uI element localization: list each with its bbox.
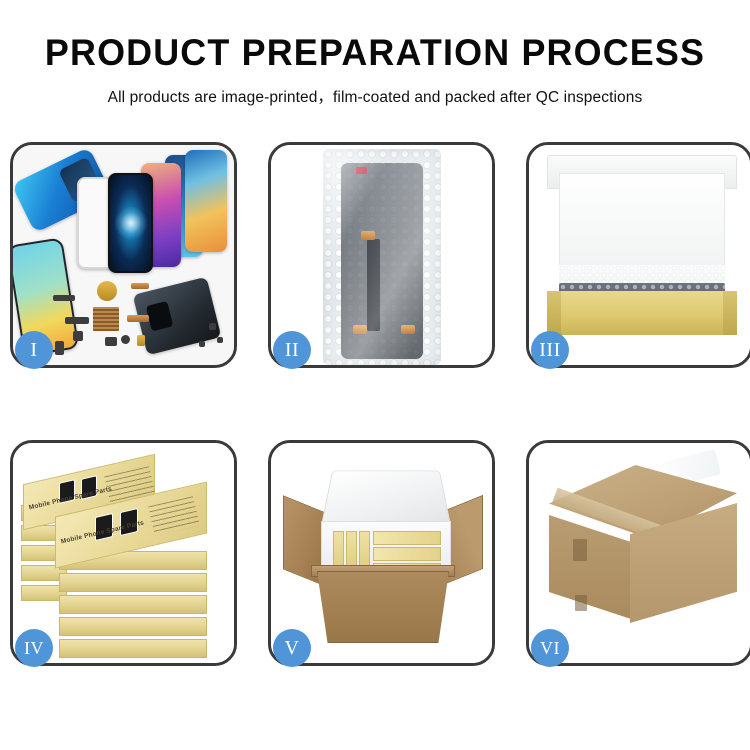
step-badge-2: II — [273, 331, 311, 369]
part-camera-module — [105, 337, 117, 346]
packed-yellow-box-4 — [373, 531, 441, 545]
step-panel-4: Mobile Phone Spare Parts Mobile Phone Sp… — [10, 440, 237, 666]
steps-grid: I II — [10, 142, 740, 666]
phone-gold-display — [185, 150, 227, 252]
step-badge-3: III — [531, 331, 569, 369]
step-badge-6: VI — [531, 629, 569, 667]
flex-connector-right — [401, 325, 415, 334]
part-screw-c — [199, 341, 205, 347]
box-stack: Mobile Phone Spare Parts Mobile Phone Sp… — [13, 443, 234, 663]
stacked-box-f-4 — [59, 617, 207, 636]
step-badge-5: V — [273, 629, 311, 667]
part-flex-cable-a — [131, 283, 149, 289]
part-gold-contact — [137, 335, 145, 346]
flex-connector-top — [361, 231, 375, 240]
carton-front-face — [317, 571, 449, 643]
carton-handle-notch-bottom — [575, 595, 587, 611]
step-badge-1: I — [15, 331, 53, 369]
stacked-box-f-3 — [59, 595, 207, 614]
part-flex-cable-b — [127, 315, 149, 322]
part-gold-disc — [97, 281, 117, 301]
foam-box-lid — [321, 470, 452, 527]
stacked-box-f-2 — [59, 573, 207, 592]
step-panel-6: VI — [526, 440, 750, 666]
step-panel-1: I — [10, 142, 237, 368]
phone-cracked-display — [108, 173, 153, 273]
part-speaker-mesh — [53, 295, 75, 301]
step-image-4: Mobile Phone Spare Parts Mobile Phone Sp… — [13, 443, 234, 663]
stacked-box-f-5 — [59, 639, 207, 658]
step-image-1 — [13, 145, 234, 365]
tray-right-lip — [723, 291, 737, 335]
page-subtitle: All products are image-printed，film-coat… — [0, 85, 750, 107]
part-screw-a — [209, 323, 216, 330]
step-image-6 — [529, 443, 750, 663]
tray-left-lip — [547, 291, 561, 335]
product-preparation-infographic: PRODUCT PREPARATION PROCESS All products… — [0, 0, 750, 750]
flex-connector-left — [353, 325, 367, 334]
step-panel-3: III — [526, 142, 750, 368]
step-image-2 — [271, 145, 492, 365]
packed-yellow-box-5 — [373, 547, 441, 561]
step-image-5 — [271, 443, 492, 663]
kraft-box-tray — [547, 291, 737, 335]
carton-handle-notch-top — [573, 539, 587, 561]
bubble-wrap-bag — [323, 149, 441, 365]
qc-red-label — [356, 167, 367, 174]
part-bracket — [65, 317, 89, 324]
header: PRODUCT PREPARATION PROCESS All products… — [0, 0, 750, 107]
step-panel-2: II — [268, 142, 495, 368]
step-image-3 — [529, 145, 750, 365]
step-badge-4: IV — [15, 629, 53, 667]
part-vibrator — [121, 335, 130, 344]
step-panel-5: V — [268, 440, 495, 666]
part-button — [73, 331, 83, 341]
carton-left-face — [549, 515, 631, 619]
screen-flex-cable — [367, 239, 380, 331]
part-sim-tray — [55, 341, 64, 355]
part-connector-chip — [93, 307, 119, 331]
part-screw-b — [217, 337, 223, 343]
page-title: PRODUCT PREPARATION PROCESS — [11, 34, 739, 73]
